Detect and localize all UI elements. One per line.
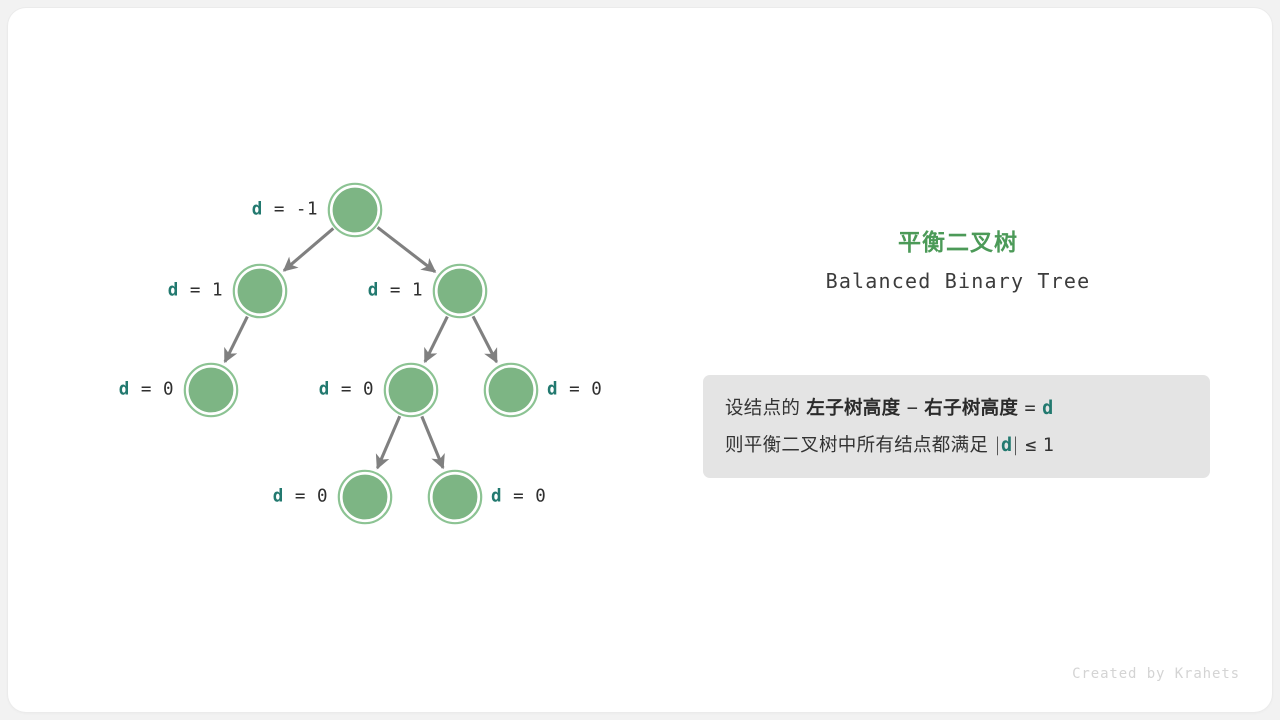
node-label-value: -1 — [296, 199, 318, 219]
definition-prefix: 设结点的 — [725, 398, 800, 419]
node-label-value: 1 — [412, 280, 423, 300]
tree-node[interactable] — [339, 471, 391, 523]
bound-value: 1 — [1043, 435, 1054, 456]
tree-node[interactable] — [385, 364, 437, 416]
tree-edges — [225, 227, 497, 468]
tree-node[interactable] — [329, 184, 381, 236]
node-label-operator: = — [341, 379, 352, 399]
node-label-variable: d — [491, 486, 502, 506]
node-label-operator: = — [513, 486, 524, 506]
tree-node-fill — [343, 475, 388, 520]
tree-nodes — [185, 184, 537, 523]
tree-edge — [425, 317, 447, 362]
node-balance-label: d = 1 — [368, 282, 423, 300]
node-balance-label: d = -1 — [252, 201, 318, 219]
abs-bar-close: | — [1012, 435, 1019, 456]
term-left-subtree-height: 左子树高度 — [806, 398, 900, 419]
node-balance-label: d = 0 — [319, 381, 374, 399]
node-label-variable: d — [547, 379, 558, 399]
credit-text: Created by Krahets — [1072, 666, 1240, 682]
node-label-variable: d — [252, 199, 263, 219]
page-title: 平衡二叉树 — [668, 230, 1248, 258]
node-label-operator: = — [390, 280, 401, 300]
tree-node-fill — [438, 269, 483, 314]
definition-line-1: 设结点的 左子树高度 − 右子树高度 = d — [725, 390, 1188, 427]
tree-node-fill — [489, 368, 534, 413]
condition-prefix: 则平衡二叉树中所有结点都满足 — [725, 435, 988, 456]
tree-node-fill — [389, 368, 434, 413]
node-balance-label: d = 0 — [119, 381, 174, 399]
node-label-operator: = — [274, 199, 285, 219]
node-balance-label: d = 0 — [273, 488, 328, 506]
node-label-variable: d — [273, 486, 284, 506]
tree-node-fill — [333, 188, 378, 233]
node-label-variable: d — [368, 280, 379, 300]
tree-node[interactable] — [185, 364, 237, 416]
tree-edge — [284, 228, 333, 270]
node-label-value: 0 — [591, 379, 602, 399]
node-label-operator: = — [569, 379, 580, 399]
node-label-operator: = — [190, 280, 201, 300]
tree-node-fill — [189, 368, 234, 413]
node-label-value: 0 — [317, 486, 328, 506]
tree-node[interactable] — [434, 265, 486, 317]
node-balance-label: d = 0 — [547, 381, 602, 399]
tree-edge — [225, 317, 247, 362]
stage: d = -1d = 1d = 1d = 0d = 0d = 0d = 0d = … — [0, 0, 1280, 720]
node-balance-label: d = 0 — [491, 488, 546, 506]
tree-node-fill — [238, 269, 283, 314]
tree-edge — [378, 227, 435, 271]
page-subtitle: Balanced Binary Tree — [668, 269, 1248, 293]
minus-operator: − — [907, 398, 918, 419]
variable-d-abs: d — [1001, 435, 1012, 456]
equals-operator: = — [1024, 398, 1035, 419]
node-label-variable: d — [168, 280, 179, 300]
node-label-operator: = — [141, 379, 152, 399]
term-right-subtree-height: 右子树高度 — [924, 398, 1018, 419]
node-label-variable: d — [119, 379, 130, 399]
definition-line-2: 则平衡二叉树中所有结点都满足 |d| ≤ 1 — [725, 427, 1188, 464]
tree-node-fill — [433, 475, 478, 520]
diagram-card: d = -1d = 1d = 1d = 0d = 0d = 0d = 0d = … — [8, 8, 1272, 712]
definition-box: 设结点的 左子树高度 − 右子树高度 = d 则平衡二叉树中所有结点都满足 |d… — [703, 375, 1210, 478]
tree-node[interactable] — [429, 471, 481, 523]
node-label-variable: d — [319, 379, 330, 399]
tree-edge — [473, 316, 497, 362]
node-label-operator: = — [295, 486, 306, 506]
node-balance-label: d = 1 — [168, 282, 223, 300]
node-label-value: 0 — [163, 379, 174, 399]
tree-edge — [422, 416, 443, 468]
node-label-value: 0 — [363, 379, 374, 399]
node-label-value: 1 — [212, 280, 223, 300]
variable-d: d — [1042, 398, 1053, 419]
tree-node[interactable] — [234, 265, 286, 317]
node-label-value: 0 — [535, 486, 546, 506]
info-panel: 平衡二叉树 Balanced Binary Tree — [668, 230, 1248, 293]
relation-operator: ≤ — [1025, 435, 1036, 456]
tree-node[interactable] — [485, 364, 537, 416]
tree-edge — [377, 416, 399, 468]
binary-tree-diagram — [8, 8, 1272, 712]
